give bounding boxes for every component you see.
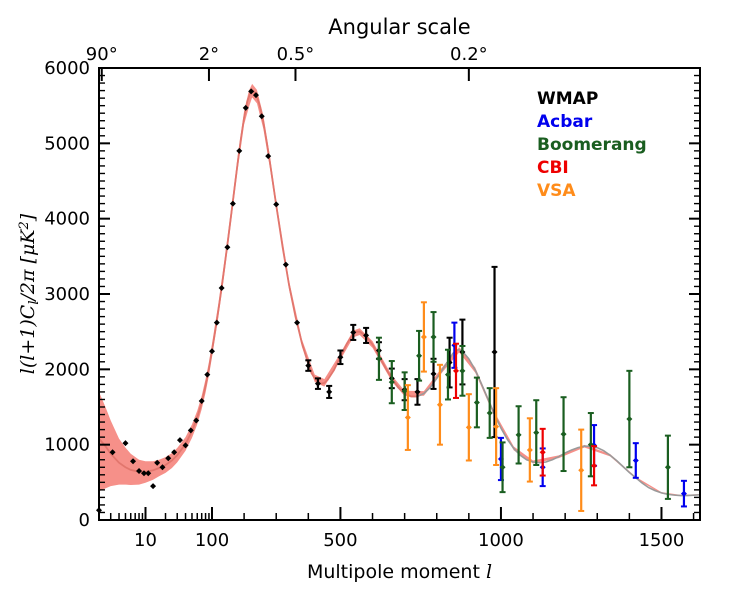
top-tick-label: 90°	[86, 44, 118, 65]
data-point	[591, 463, 597, 469]
y-label-close: ]	[17, 213, 39, 222]
x-tick-label: 500	[323, 530, 357, 551]
data-point	[633, 457, 639, 463]
data-point	[626, 416, 632, 422]
data-point	[150, 483, 156, 489]
data-point	[224, 244, 230, 250]
data-point	[273, 201, 279, 207]
data-point	[533, 430, 539, 436]
legend-item-cbi: CBI	[537, 158, 569, 178]
data-point	[230, 201, 236, 207]
data-point	[474, 399, 480, 405]
data-point	[492, 349, 498, 355]
data-point	[405, 415, 411, 421]
y-label-tail: /2π [μK	[17, 228, 39, 303]
data-point	[437, 402, 443, 408]
y-label-main: l(l+1)C	[17, 304, 39, 374]
x-tick-label: 10	[134, 530, 157, 551]
data-point	[214, 320, 220, 326]
theory-curve-low-l	[99, 91, 417, 472]
x-tick-label: 1500	[639, 530, 685, 551]
x-axis-label-symbol: l	[486, 561, 492, 583]
plot-canvas: 0100020003000400050006000101005001000150…	[0, 0, 733, 600]
legend-item-vsa: VSA	[537, 181, 576, 201]
data-point	[487, 410, 493, 416]
x-tick-label: 1000	[478, 530, 524, 551]
y-tick-label: 6000	[44, 58, 90, 79]
data-point	[294, 320, 300, 326]
data-point	[561, 431, 567, 437]
top-tick-label: 2°	[199, 44, 219, 65]
y-tick-label: 0	[79, 510, 90, 531]
data-point	[466, 424, 472, 430]
data-point	[416, 353, 422, 359]
y-tick-label: 2000	[44, 359, 90, 380]
data-point	[527, 447, 533, 453]
data-point	[578, 467, 584, 473]
data-point	[431, 334, 437, 340]
series-cbi	[453, 344, 597, 486]
x-axis-label: Multipole moment l	[307, 561, 492, 583]
y-tick-label: 1000	[44, 435, 90, 456]
data-point	[516, 432, 522, 438]
data-point	[219, 285, 225, 291]
data-point	[236, 148, 242, 154]
y-label-exp: 2	[17, 221, 32, 230]
data-point	[459, 368, 465, 374]
data-point	[326, 389, 332, 395]
top-tick-label: 0.2°	[450, 44, 488, 65]
cmb-power-spectrum-figure: 0100020003000400050006000101005001000150…	[0, 0, 733, 600]
top-axis-title: Angular scale	[328, 15, 470, 39]
y-tick-label: 5000	[44, 133, 90, 154]
series-wmap	[96, 88, 498, 513]
data-point	[265, 153, 271, 159]
y-tick-label: 3000	[44, 284, 90, 305]
legend-item-wmap: WMAP	[537, 89, 598, 109]
top-tick-label: 0.5°	[277, 44, 315, 65]
data-point	[421, 334, 427, 340]
data-point	[209, 348, 215, 354]
data-point	[665, 464, 671, 470]
y-axis-label: l(l+1)Cl/2π [μK2]	[17, 213, 42, 374]
y-axis-label-group: l(l+1)Cl/2π [μK2]	[17, 213, 42, 374]
legend-item-acbar: Acbar	[537, 112, 593, 132]
y-tick-label: 4000	[44, 209, 90, 230]
data-point	[540, 449, 546, 455]
data-point	[283, 262, 289, 268]
series-acbar	[451, 323, 687, 507]
theory-curve-high-l	[392, 350, 700, 496]
legend-item-boomerang: Boomerang	[537, 135, 647, 155]
x-tick-label: 100	[195, 530, 229, 551]
